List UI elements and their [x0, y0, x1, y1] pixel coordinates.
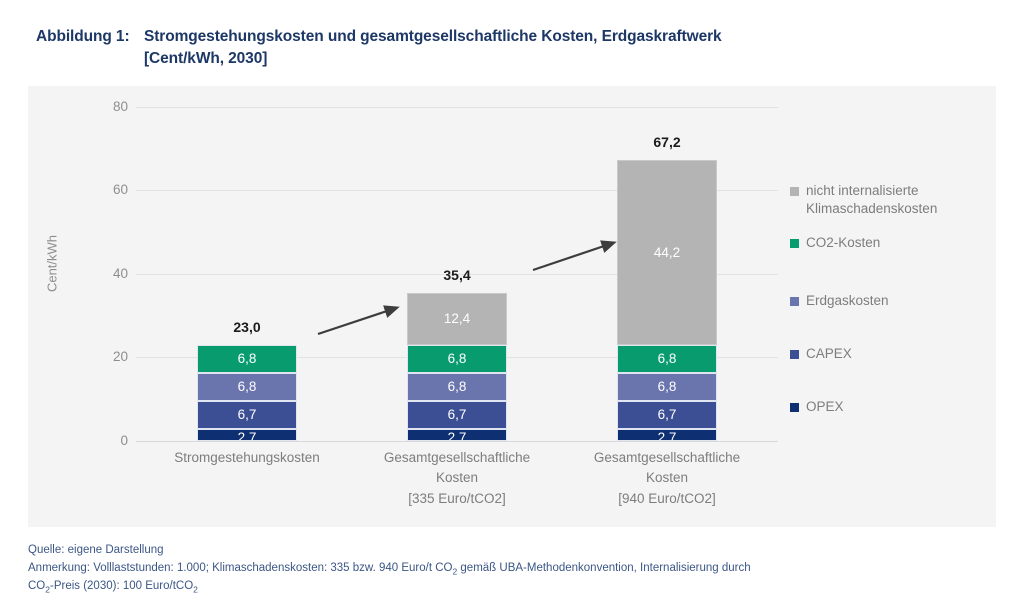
bar-segment-value: 6,8	[448, 380, 467, 394]
legend-swatch-icon	[790, 403, 799, 412]
y-tick-label-80: 80	[86, 99, 128, 114]
x-tick-label-1: Stromgestehungskosten	[147, 448, 347, 468]
x-tick-line: Kosten	[357, 468, 557, 488]
x-tick-line: Stromgestehungskosten	[147, 448, 347, 468]
arrow-bar2-to-bar3	[533, 243, 613, 270]
legend-item-co2[interactable]: CO2-Kosten	[790, 234, 880, 252]
bar-segment-value: 2,7	[238, 431, 257, 441]
bar-total-label-3: 67,2	[597, 134, 737, 150]
bar-segment-erdgas-3[interactable]: 6,8	[617, 373, 717, 401]
legend-item-opex[interactable]: OPEX	[790, 398, 844, 416]
bar-segment-capex-3[interactable]: 6,7	[617, 401, 717, 429]
bar-segment-value: 2,7	[658, 431, 677, 441]
legend-swatch-icon	[790, 187, 799, 196]
legend-swatch-icon	[790, 297, 799, 306]
x-tick-line: [940 Euro/tCO2]	[567, 489, 767, 509]
x-tick-line: [335 Euro/tCO2]	[357, 489, 557, 509]
bar-segment-co2-1[interactable]: 6,8	[197, 345, 297, 373]
bar-segment-value: 6,8	[658, 352, 677, 366]
bar-segment-opex-1[interactable]: 2,7	[197, 429, 297, 441]
bar-segment-value: 6,7	[658, 408, 677, 422]
legend-label: nicht internalisierte Klimaschadenskoste…	[806, 182, 976, 218]
footnotes: Quelle: eigene Darstellung Anmerkung: Vo…	[28, 542, 1008, 597]
bar-segment-co2-2[interactable]: 6,8	[407, 345, 507, 373]
legend-swatch-icon	[790, 239, 799, 248]
bar-group-1[interactable]: 23,0 6,8 6,8 6,7 2,7	[197, 345, 297, 441]
bar-segment-value: 12,4	[444, 312, 470, 326]
figure-number: Abbildung 1:	[36, 26, 144, 48]
bar-segment-capex-2[interactable]: 6,7	[407, 401, 507, 429]
chart-panel: Cent/kWh 80 60 40 20 0 23,0 6,8 6,8 6,7 …	[28, 86, 996, 527]
bar-segment-value: 6,8	[448, 352, 467, 366]
bar-segment-co2-3[interactable]: 6,8	[617, 345, 717, 373]
footnote-subscript: 2	[193, 585, 198, 595]
bar-segment-value: 6,8	[238, 352, 257, 366]
bar-segment-value: 6,7	[238, 408, 257, 422]
x-tick-label-2: Gesamtgesellschaftliche Kosten [335 Euro…	[357, 448, 557, 509]
x-tick-line: Kosten	[567, 468, 767, 488]
bar-segment-opex-3[interactable]: 2,7	[617, 429, 717, 441]
figure-title-line2: [Cent/kWh, 2030]	[144, 48, 916, 70]
y-tick-label-20: 20	[86, 349, 128, 364]
y-axis-title: Cent/kWh	[45, 209, 60, 319]
footnote-note-line2: CO2-Preis (2030): 100 Euro/tCO2	[28, 578, 1008, 596]
bar-segment-value: 6,8	[238, 380, 257, 394]
bar-total-label-1: 23,0	[177, 319, 317, 335]
bar-segment-opex-2[interactable]: 2,7	[407, 429, 507, 441]
bar-segment-value: 2,7	[448, 431, 467, 441]
bar-segment-klima-3[interactable]: 44,2	[617, 160, 717, 345]
bar-segment-value: 6,7	[448, 408, 467, 422]
legend-label: CAPEX	[806, 345, 852, 363]
bar-segment-capex-1[interactable]: 6,7	[197, 401, 297, 429]
legend-label: Erdgaskosten	[806, 292, 889, 310]
bar-group-3[interactable]: 67,2 44,2 6,8 6,8 6,7 2,7	[617, 160, 717, 441]
x-tick-label-3: Gesamtgesellschaftliche Kosten [940 Euro…	[567, 448, 767, 509]
bar-segment-value: 44,2	[654, 246, 680, 260]
bar-segment-erdgas-2[interactable]: 6,8	[407, 373, 507, 401]
bar-segment-klima-2[interactable]: 12,4	[407, 293, 507, 345]
x-tick-line: Gesamtgesellschaftliche	[567, 448, 767, 468]
bar-total-label-2: 35,4	[387, 267, 527, 283]
x-tick-line: Gesamtgesellschaftliche	[357, 448, 557, 468]
bar-group-2[interactable]: 35,4 12,4 6,8 6,8 6,7 2,7	[407, 293, 507, 441]
footnote-text: gemäß UBA-Methodenkonvention, Internalis…	[457, 562, 750, 574]
footnote-text: CO	[28, 580, 45, 592]
legend-swatch-icon	[790, 350, 799, 359]
plot-area: Cent/kWh 80 60 40 20 0 23,0 6,8 6,8 6,7 …	[28, 86, 996, 527]
legend-item-erdgas[interactable]: Erdgaskosten	[790, 292, 889, 310]
figure-title: Abbildung 1:Stromgestehungskosten und ge…	[36, 26, 916, 71]
legend-label: CO2-Kosten	[806, 234, 880, 252]
gridline-0	[136, 441, 778, 442]
arrow-bar1-to-bar2	[318, 308, 396, 334]
figure-title-line1: Stromgestehungskosten und gesamtgesellsc…	[144, 28, 722, 45]
legend-item-klima[interactable]: nicht internalisierte Klimaschadenskoste…	[790, 182, 976, 218]
y-tick-label-40: 40	[86, 266, 128, 281]
footnote-source: Quelle: eigene Darstellung	[28, 542, 1008, 560]
footnote-text: Anmerkung: Volllaststunden: 1.000; Klima…	[28, 562, 452, 574]
y-tick-label-0: 0	[86, 433, 128, 448]
bar-segment-erdgas-1[interactable]: 6,8	[197, 373, 297, 401]
legend-item-capex[interactable]: CAPEX	[790, 345, 852, 363]
footnote-text: -Preis (2030): 100 Euro/tCO	[50, 580, 193, 592]
bar-segment-value: 6,8	[658, 380, 677, 394]
y-tick-label-60: 60	[86, 182, 128, 197]
legend-label: OPEX	[806, 398, 844, 416]
gridline-80	[136, 107, 778, 108]
footnote-note-line1: Anmerkung: Volllaststunden: 1.000; Klima…	[28, 560, 1008, 578]
